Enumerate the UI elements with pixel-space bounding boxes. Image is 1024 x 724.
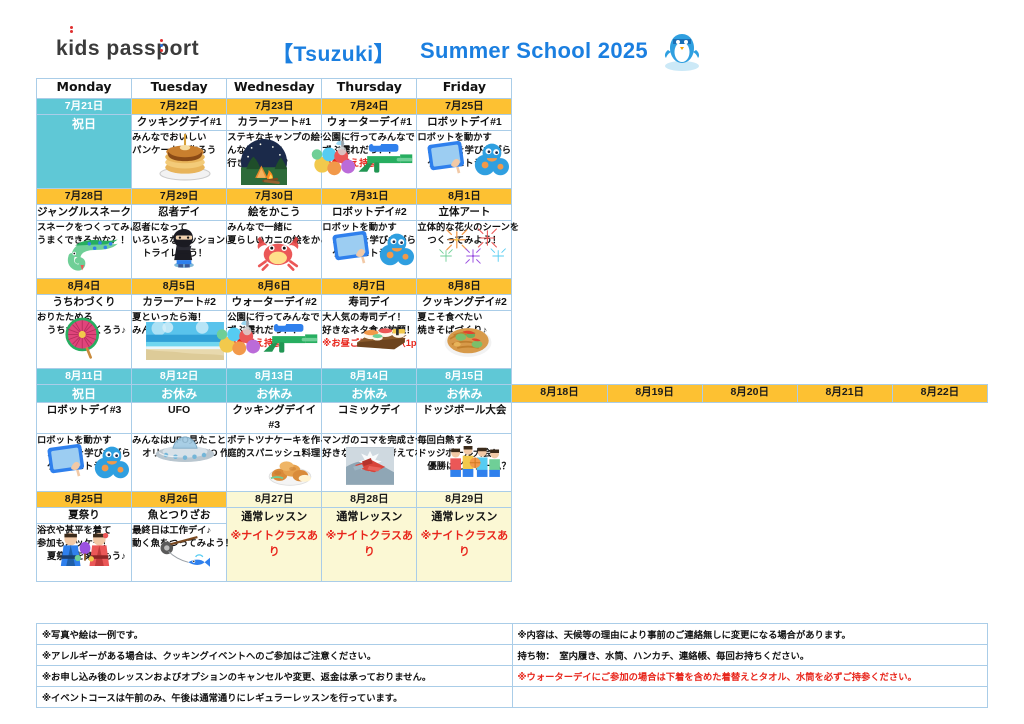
date-label: 8月15日 (417, 369, 512, 385)
event-title: 夏祭り (37, 508, 132, 524)
tablet-robot-icon (332, 229, 414, 273)
event-title: ウォーターデイ#2 (227, 295, 322, 311)
event-description-cell: ロボットを動かすスキルを学びながらゲームにトライ！ (417, 131, 512, 189)
note-left-2: ※アレルギーがある場合は、クッキングイベントへのご参加はご注意ください。 (37, 645, 513, 666)
pancakes-icon (152, 132, 218, 186)
date-label: 8月14日 (322, 369, 417, 385)
note-right-4 (512, 687, 988, 708)
event-description-cell: 夏こそ食べたい焼きそばづくり♪ (417, 311, 512, 369)
date-label: 8月4日 (37, 279, 132, 295)
regular-lesson-cell: 通常レッスン※ナイトクラスあり (417, 508, 512, 582)
event-title: 忍者デイ (132, 205, 227, 221)
event-description-cell: マンガのコマを完成させよう！好きなセリフを考えてね (322, 434, 417, 492)
dow-tuesday: Tuesday (132, 79, 227, 99)
calendar-table: Monday Tuesday Wednesday Thursday Friday… (36, 78, 988, 582)
rest-day-cell: 祝日 (37, 385, 132, 403)
dow-wednesday: Wednesday (227, 79, 322, 99)
event-description-cell: 忍者になっていろいろなミッションにトライレよう！ (132, 221, 227, 279)
festival-kids-icon (51, 528, 119, 574)
rest-day-cell: お休み (417, 385, 512, 403)
notes-row: ※イベントコースは午前のみ、午後は通常通りにレギュラーレッスンを行っています。 (37, 687, 988, 708)
kids-passport-logo: kids passport (56, 38, 199, 59)
event-title: カラーアート#1 (227, 115, 322, 131)
tablet-robot-icon (427, 139, 509, 183)
footer-notes-table: ※写真や絵は一例です。 ※内容は、天候等の理由により事前のご連絡無しに変更になる… (36, 623, 988, 708)
date-label: 8月1日 (417, 189, 512, 205)
date-label: 7月31日 (322, 189, 417, 205)
page-header: kids passport 【Tsuzuki】 Summer School 20… (0, 0, 1024, 78)
week-date-row: 7月21日7月22日7月23日7月24日7月25日 (37, 99, 988, 115)
date-label: 7月30日 (227, 189, 322, 205)
week-body-row: 浴衣や甚平を着て参加もオッケー！夏祭りを楽しもう♪最終日は工作デイ♪動く魚をつっ… (37, 524, 988, 582)
week-title-row: ジャングルスネーク忍者デイ絵をかこうロボットデイ#2立体アート (37, 205, 988, 221)
event-description-cell: 公園に行ってみんなでずぶ濡れだっ！！※着替え持参 (322, 131, 417, 189)
note-right-3: ※ウォーターデイにご参加の場合は下着を含めた着替えとタオル、水筒を必ずご持参くだ… (512, 666, 988, 687)
event-description-cell: 大人気の寿司デイ！好きなネタ食べ放題！！※お昼ごはん無し（1pmで終了） (322, 311, 417, 369)
event-title: コミックデイ (322, 403, 417, 434)
date-label: 8月21日 (797, 385, 892, 403)
date-label: 8月20日 (702, 385, 797, 403)
event-title: ロボットデイ#1 (417, 115, 512, 131)
dow-thursday: Thursday (322, 79, 417, 99)
ufo-icon (150, 430, 220, 472)
note-left-4: ※イベントコースは午前のみ、午後は通常通りにレギュラーレッスンを行っています。 (37, 687, 513, 708)
date-label: 8月18日 (512, 385, 607, 403)
rest-day-cell: お休み (322, 385, 417, 403)
regular-lesson-label: 通常レッスン (322, 508, 416, 524)
event-title: ドッジボール大会 (417, 403, 512, 434)
branch-title: 【Tsuzuki】 (272, 38, 395, 68)
campfire-icon (241, 139, 287, 189)
potato-cake-icon (265, 447, 315, 491)
date-label: 7月23日 (227, 99, 322, 115)
comic-icon (346, 447, 394, 489)
date-label: 7月24日 (322, 99, 417, 115)
dow-monday: Monday (37, 79, 132, 99)
event-title: ロボットデイ#2 (322, 205, 417, 221)
event-title: 魚とつりざお (132, 508, 227, 524)
event-description-cell: ポテトツナケーキを作ろう！ 家庭的スパニッシュ料理 (227, 434, 322, 492)
notes-row: ※お申し込み後のレッスンおよびオプションのキャンセルや変更、返金は承っておりませ… (37, 666, 988, 687)
date-label: 8月13日 (227, 369, 322, 385)
dow-friday: Friday (417, 79, 512, 99)
day-of-week-header-row: Monday Tuesday Wednesday Thursday Friday (37, 79, 988, 99)
note-left-3: ※お申し込み後のレッスンおよびオプションのキャンセルや変更、返金は承っておりませ… (37, 666, 513, 687)
week-title-row: ロボットデイ#3UFOクッキングデイイ #3コミックデイドッジボール大会 (37, 403, 988, 434)
notes-row: ※写真や絵は一例です。 ※内容は、天候等の理由により事前のご連絡無しに変更になる… (37, 624, 988, 645)
event-description-cell: 公園に行ってみんなでずぶ濡れだっ！！※着替え持参 (227, 311, 322, 369)
event-title: 寿司デイ (322, 295, 417, 311)
date-label: 8月12日 (132, 369, 227, 385)
beach-photo-icon (146, 322, 224, 364)
date-label: 8月7日 (322, 279, 417, 295)
week-title-row: 祝日クッキングデイ#1カラーアート#1ウォーターデイ#1ロボットデイ#1 (37, 115, 988, 131)
week-body-row: スネークをつくってみよううまくできるかな？！忍者になっていろいろなミッションにト… (37, 221, 988, 279)
event-title: カラーアート#2 (132, 295, 227, 311)
event-description-cell: みんなでおいしいパンケーキを作ろう (132, 131, 227, 189)
week-date-row: 8月11日8月12日8月13日8月14日8月15日 (37, 369, 988, 385)
week-body-row: みんなでおいしいパンケーキを作ろうステキなキャンプの絵を描こう！ みんなはどこに… (37, 131, 988, 189)
penguin-mascot-icon (660, 28, 704, 72)
fishing-icon (156, 535, 210, 581)
waterballoons-watergun-icon (215, 317, 319, 361)
date-label: 7月21日 (37, 99, 132, 115)
date-label: 8月25日 (37, 492, 132, 508)
week-date-row: 8月25日8月26日8月27日8月28日8月29日 (37, 492, 988, 508)
event-description-cell: 浴衣や甚平を着て参加もオッケー！夏祭りを楽しもう♪ (37, 524, 132, 582)
night-class-note: ※ナイトクラスあり (322, 527, 416, 559)
event-title: 立体アート (417, 205, 512, 221)
snake-icon (61, 229, 123, 275)
event-title: ロボットデイ#3 (37, 403, 132, 434)
event-description-cell: ロボットを動かすスキルを学びながらゲームにトライ！ (37, 434, 132, 492)
note-left-1: ※写真や絵は一例です。 (37, 624, 513, 645)
event-title: 絵をかこう (227, 205, 322, 221)
week-body-row: おりたためるうちわをつくろう♪夏といったら海！みんなで海の絵を描こう！公園に行っ… (37, 311, 988, 369)
event-description-cell: みんなはUFO見たことある？？オリジナルのUFO 作ろう！ (132, 434, 227, 492)
event-title: うちわづくり (37, 295, 132, 311)
event-description-cell: みんなで一緒に夏らしいカニの絵をかこう (227, 221, 322, 279)
regular-lesson-cell: 通常レッスン※ナイトクラスあり (227, 508, 322, 582)
date-label: 8月28日 (322, 492, 417, 508)
night-class-note: ※ナイトクラスあり (417, 527, 511, 559)
date-label: 8月27日 (227, 492, 322, 508)
event-title: ジャングルスネーク (37, 205, 132, 221)
tablet-robot-icon (47, 442, 129, 486)
rest-day-cell: 祝日 (37, 115, 132, 189)
event-description-cell: 立体的な花火のシーンをつくってみよう！ (417, 221, 512, 279)
rest-day-cell: お休み (132, 385, 227, 403)
date-label: 8月5日 (132, 279, 227, 295)
crab-icon (253, 227, 303, 275)
event-description-cell: 最終日は工作デイ♪動く魚をつってみよう！ (132, 524, 227, 582)
event-title: クッキングデイ#2 (417, 295, 512, 311)
date-label: 7月25日 (417, 99, 512, 115)
summer-school-calendar-page: kids passport 【Tsuzuki】 Summer School 20… (0, 0, 1024, 724)
date-label: 7月22日 (132, 99, 227, 115)
event-description-cell: ロボットを動かすスキルを学びながらゲームにトライ！ (322, 221, 417, 279)
regular-lesson-label: 通常レッスン (417, 508, 511, 524)
date-label: 8月6日 (227, 279, 322, 295)
event-description-cell: 毎回白熱するドッジボール大会！優勝はどのチーム？ (417, 434, 512, 492)
event-description-line: マンガのコマを完成させよう！ (322, 434, 416, 447)
note-right-2: 持ち物： 室内履き、水筒、ハンカチ、連絡帳、毎回お持ちください。 (512, 645, 988, 666)
week-date-row: 7月28日7月29日7月30日7月31日8月1日 (37, 189, 988, 205)
dodgeball-kids-icon (445, 440, 507, 486)
event-description-cell: スネークをつくってみよううまくできるかな？！ (37, 221, 132, 279)
week-title-row: 夏祭り魚とつりざお通常レッスン※ナイトクラスあり通常レッスン※ナイトクラスあり通… (37, 508, 988, 524)
date-label: 7月28日 (37, 189, 132, 205)
event-title: クッキングデイ#1 (132, 115, 227, 131)
event-description-cell: おりたためるうちわをつくろう♪ (37, 311, 132, 369)
date-label: 8月8日 (417, 279, 512, 295)
week-body-row: ロボットを動かすスキルを学びながらゲームにトライ！みんなはUFO見たことある？？… (37, 434, 988, 492)
event-description-cell: ステキなキャンプの絵を描こう！ みんなはどこに行きたいかな？ (227, 131, 322, 189)
night-class-note: ※ナイトクラスあり (227, 527, 321, 559)
regular-lesson-label: 通常レッスン (227, 508, 321, 524)
event-title: UFO (132, 403, 227, 434)
waterballoons-watergun-icon (310, 137, 414, 181)
fireworks-icon (437, 227, 509, 271)
rest-day-cell: お休み (227, 385, 322, 403)
date-label: 8月19日 (607, 385, 702, 403)
event-title: ウォーターデイ#1 (322, 115, 417, 131)
note-right-1: ※内容は、天候等の理由により事前のご連絡無しに変更になる場合があります。 (512, 624, 988, 645)
event-title: クッキングデイイ #3 (227, 403, 322, 434)
date-label: 8月11日 (37, 369, 132, 385)
uchiwa-fan-icon (61, 315, 107, 365)
yakisoba-icon (441, 317, 495, 363)
week-date-row: 8月4日8月5日8月6日8月7日8月8日 (37, 279, 988, 295)
date-label: 7月29日 (132, 189, 227, 205)
week-title-row: うちわづくりカラーアート#2ウォーターデイ#2寿司デイクッキングデイ#2 (37, 295, 988, 311)
date-label: 8月29日 (417, 492, 512, 508)
regular-lesson-cell: 通常レッスン※ナイトクラスあり (322, 508, 417, 582)
date-label: 8月26日 (132, 492, 227, 508)
date-label: 8月22日 (892, 385, 987, 403)
ninja-icon (166, 225, 202, 273)
sushi-icon (350, 319, 412, 359)
event-description-cell: 夏といったら海！みんなで海の絵を描こう！ (132, 311, 227, 369)
event-description-line: ポテトツナケーキを作ろう！ 家 (227, 434, 321, 447)
page-title: Summer School 2025 (420, 38, 648, 64)
notes-row: ※アレルギーがある場合は、クッキングイベントへのご参加はご注意ください。 持ち物… (37, 645, 988, 666)
